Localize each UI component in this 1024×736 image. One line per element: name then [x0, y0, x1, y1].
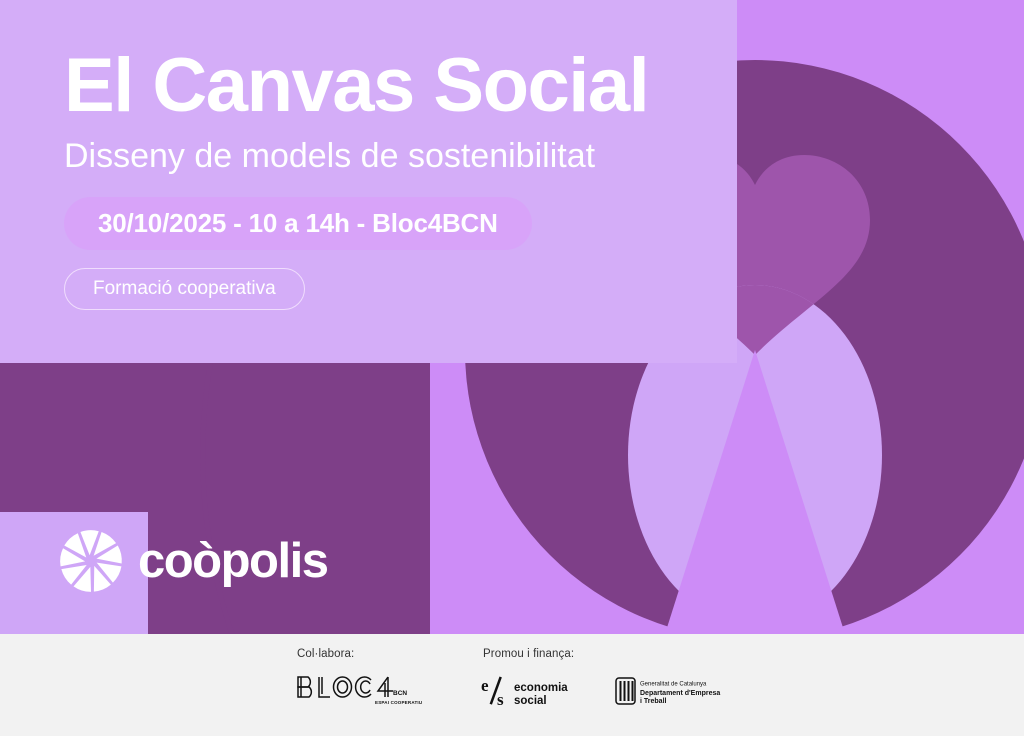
svg-text:social: social — [514, 695, 547, 707]
poster-artwork: El Canvas Social Disseny de models de so… — [0, 0, 1024, 634]
footer-logos: Col·labora: — [295, 648, 743, 710]
category-pill-row: Formació cooperativa — [64, 250, 824, 310]
date-pill-row: 30/10/2025 - 10 a 14h - Bloc4BCN — [64, 197, 824, 250]
footer-bar: Col·labora: — [0, 634, 1024, 736]
svg-text:i Treball: i Treball — [640, 698, 667, 705]
page-title: El Canvas Social — [64, 48, 824, 124]
event-date-badge: 30/10/2025 - 10 a 14h - Bloc4BCN — [64, 197, 532, 250]
funders-label: Promou i finança: — [483, 648, 574, 660]
svg-text:e: e — [481, 676, 489, 695]
funder-logo-row: e s economia social — [481, 674, 743, 710]
svg-text:BCN: BCN — [393, 690, 407, 697]
brand-wordmark: coòpolis — [138, 537, 327, 586]
headline-block: El Canvas Social Disseny de models de so… — [64, 48, 824, 310]
coopolis-pinwheel-icon — [58, 528, 124, 594]
svg-text:Generalitat de Catalunya: Generalitat de Catalunya — [640, 682, 707, 688]
brand-lockup: coòpolis — [58, 528, 327, 594]
svg-text:economia: economia — [514, 682, 568, 694]
footer-collaborators: Col·labora: — [295, 648, 427, 708]
page-subtitle: Disseny de models de sostenibilitat — [64, 138, 824, 175]
poster-canvas: El Canvas Social Disseny de models de so… — [0, 0, 1024, 736]
economia-social-logo: e s economia social — [481, 674, 593, 710]
bloc4bcn-logo: BCN ESPAI COOPERATIU — [295, 674, 427, 708]
svg-text:Departament d'Empresa: Departament d'Empresa — [640, 690, 720, 697]
svg-text:s: s — [497, 690, 504, 709]
bloc4bcn-tagline: ESPAI COOPERATIU — [375, 700, 422, 705]
footer-funders: Promou i finança: e s economia social — [481, 648, 743, 710]
collaborators-label: Col·labora: — [297, 648, 354, 660]
event-category-badge: Formació cooperativa — [64, 268, 305, 310]
collaborator-logo-row: BCN ESPAI COOPERATIU — [295, 674, 427, 708]
generalitat-catalunya-logo: Generalitat de Catalunya Departament d'E… — [615, 675, 743, 709]
